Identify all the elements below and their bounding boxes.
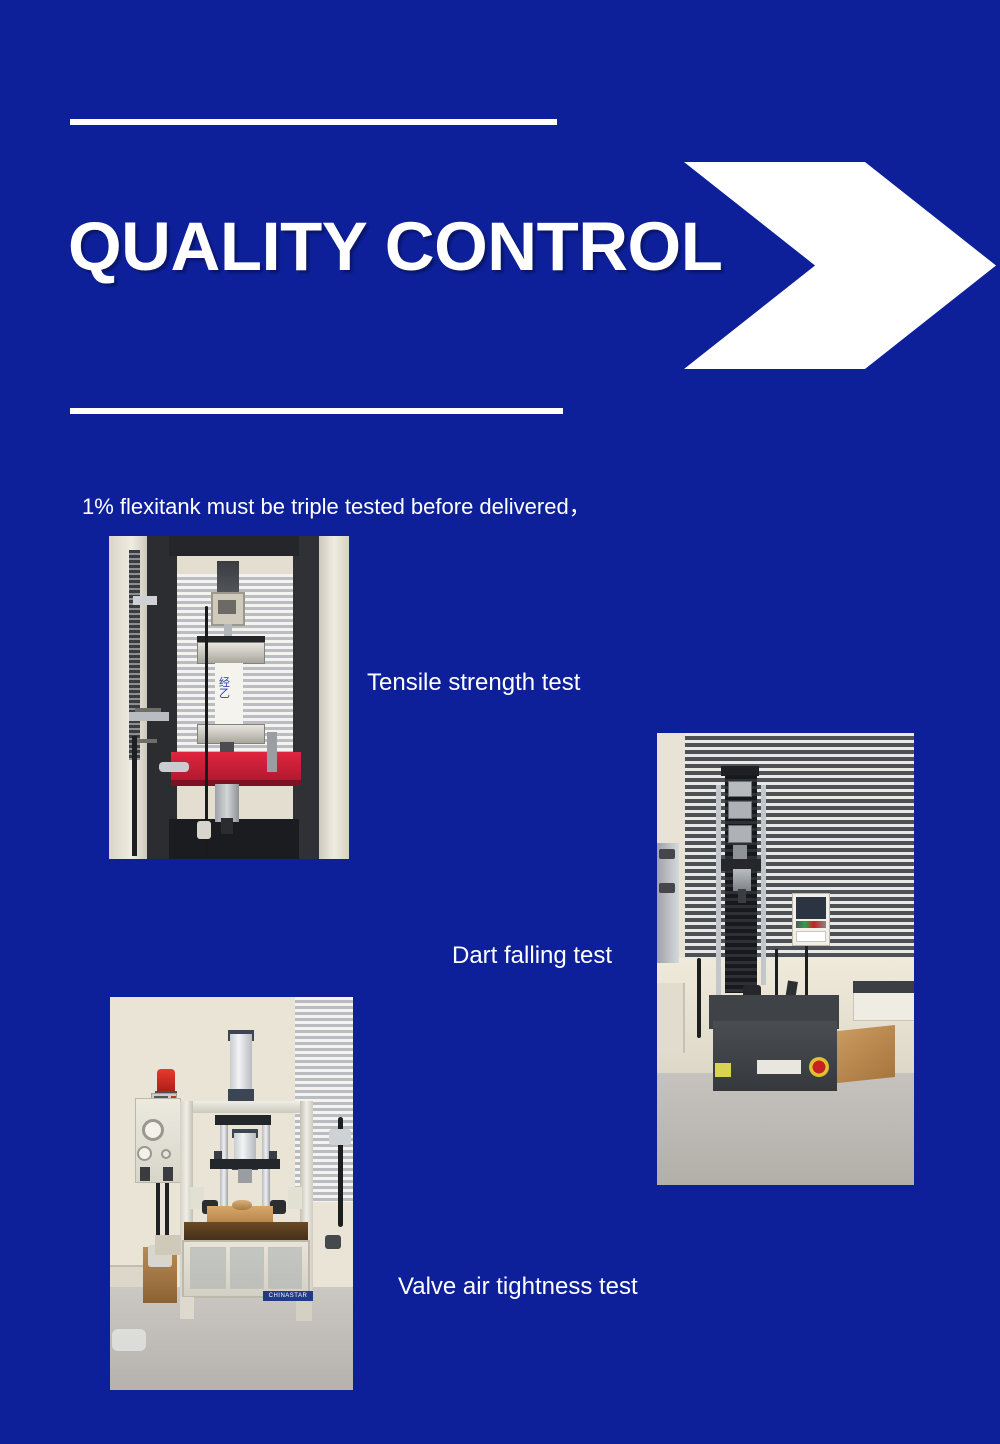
screw-bracket [129, 712, 169, 721]
control-panel-printer [796, 931, 826, 942]
slide-root: QUALITY CONTROL 1% flexitank must be tri… [0, 0, 1000, 1444]
background-cabinet-top [853, 981, 914, 993]
valve-air-tightness-test-photo: CHINASTAR [110, 997, 353, 1390]
caption-dart-falling-test: Dart falling test [452, 942, 612, 970]
tensile-strength-test-photo: 经乙 [109, 536, 349, 859]
control-panel-buttons[interactable] [796, 921, 826, 928]
page-title: QUALITY CONTROL [68, 212, 722, 281]
actuator-post [215, 784, 239, 822]
pipe-fitting-lower [659, 883, 675, 893]
floor-socket [325, 1235, 341, 1249]
dart-falling-test-photo [657, 733, 914, 1185]
machine-nameplate [757, 1060, 801, 1074]
machine-lower-shroud [169, 819, 299, 859]
wall-pipework [657, 843, 679, 963]
frame-top-beam [180, 1101, 313, 1113]
tank-window-right [268, 1247, 302, 1289]
sensor-cable [205, 606, 208, 796]
screw-bracket-upper [133, 596, 157, 605]
upper-crossbar [215, 1115, 271, 1125]
cable-connector [197, 821, 211, 839]
air-tube-2 [165, 1183, 169, 1235]
control-panel-screen[interactable] [796, 897, 826, 919]
machine-right-upright [319, 536, 349, 859]
press-plate [210, 1159, 280, 1169]
upper-fixture-3 [728, 825, 752, 843]
guide-rail-right [761, 785, 766, 985]
machine-brand-label: CHINASTAR [263, 1291, 313, 1301]
machine-label-upper [135, 708, 161, 712]
tank-window-center [230, 1247, 264, 1289]
lead-screw-lower [132, 736, 137, 856]
wall-partition [657, 983, 685, 1053]
upper-fixture-1 [728, 781, 752, 797]
plastic-bag [112, 1329, 146, 1351]
machine-cabinet [713, 1021, 837, 1091]
tank-window-left [190, 1247, 226, 1289]
specimen-handwriting: 经乙 [219, 678, 237, 700]
guide-rail-left [716, 785, 721, 1005]
load-cell [733, 845, 747, 859]
floor-cable [697, 958, 701, 1038]
pressure-gauge-large [142, 1119, 164, 1141]
intro-text: 1% flexitank must be triple tested befor… [82, 489, 591, 521]
machine-left-upright [109, 536, 147, 859]
tank-leg-left [180, 1297, 194, 1319]
hand-tool [267, 732, 277, 772]
control-valve-left[interactable] [140, 1167, 150, 1181]
actuator-tip [221, 818, 233, 834]
pressure-gauge-small [137, 1146, 152, 1161]
machine-label-lower [137, 739, 157, 743]
load-cell-window [218, 600, 236, 614]
header-rule-top [70, 119, 557, 125]
test-probe [238, 1169, 252, 1183]
flexitank-valve-sample [232, 1200, 252, 1210]
wall-fitting [329, 1129, 351, 1145]
caption-tensile-strength-test: Tensile strength test [367, 669, 580, 697]
air-tube-1 [156, 1183, 160, 1241]
right-arrow-chevron-icon [684, 162, 996, 369]
pipe-fitting-upper [659, 849, 675, 859]
top-pneumatic-cylinder [230, 1034, 252, 1096]
table-handle [159, 762, 189, 772]
machine-left-frame [147, 536, 177, 859]
header-rule-bottom [70, 408, 563, 414]
dart-chuck [733, 869, 751, 891]
machine-crosshead-top [169, 536, 299, 556]
lead-screw [129, 550, 140, 760]
caption-valve-air-tightness-test: Valve air tightness test [398, 1273, 638, 1301]
side-shelf-right [288, 1187, 302, 1209]
pressure-gauge-tiny [161, 1149, 171, 1159]
alarm-beacon-light [157, 1069, 175, 1093]
dart-tip [738, 889, 746, 903]
cabinet-warning-label [715, 1063, 731, 1077]
emergency-stop-button[interactable] [809, 1057, 829, 1077]
red-work-table [171, 752, 301, 782]
box-stack-top [155, 1235, 181, 1255]
machine-right-frame [293, 536, 319, 859]
upper-fixture-2 [728, 801, 752, 819]
control-valve-right[interactable] [163, 1167, 173, 1181]
